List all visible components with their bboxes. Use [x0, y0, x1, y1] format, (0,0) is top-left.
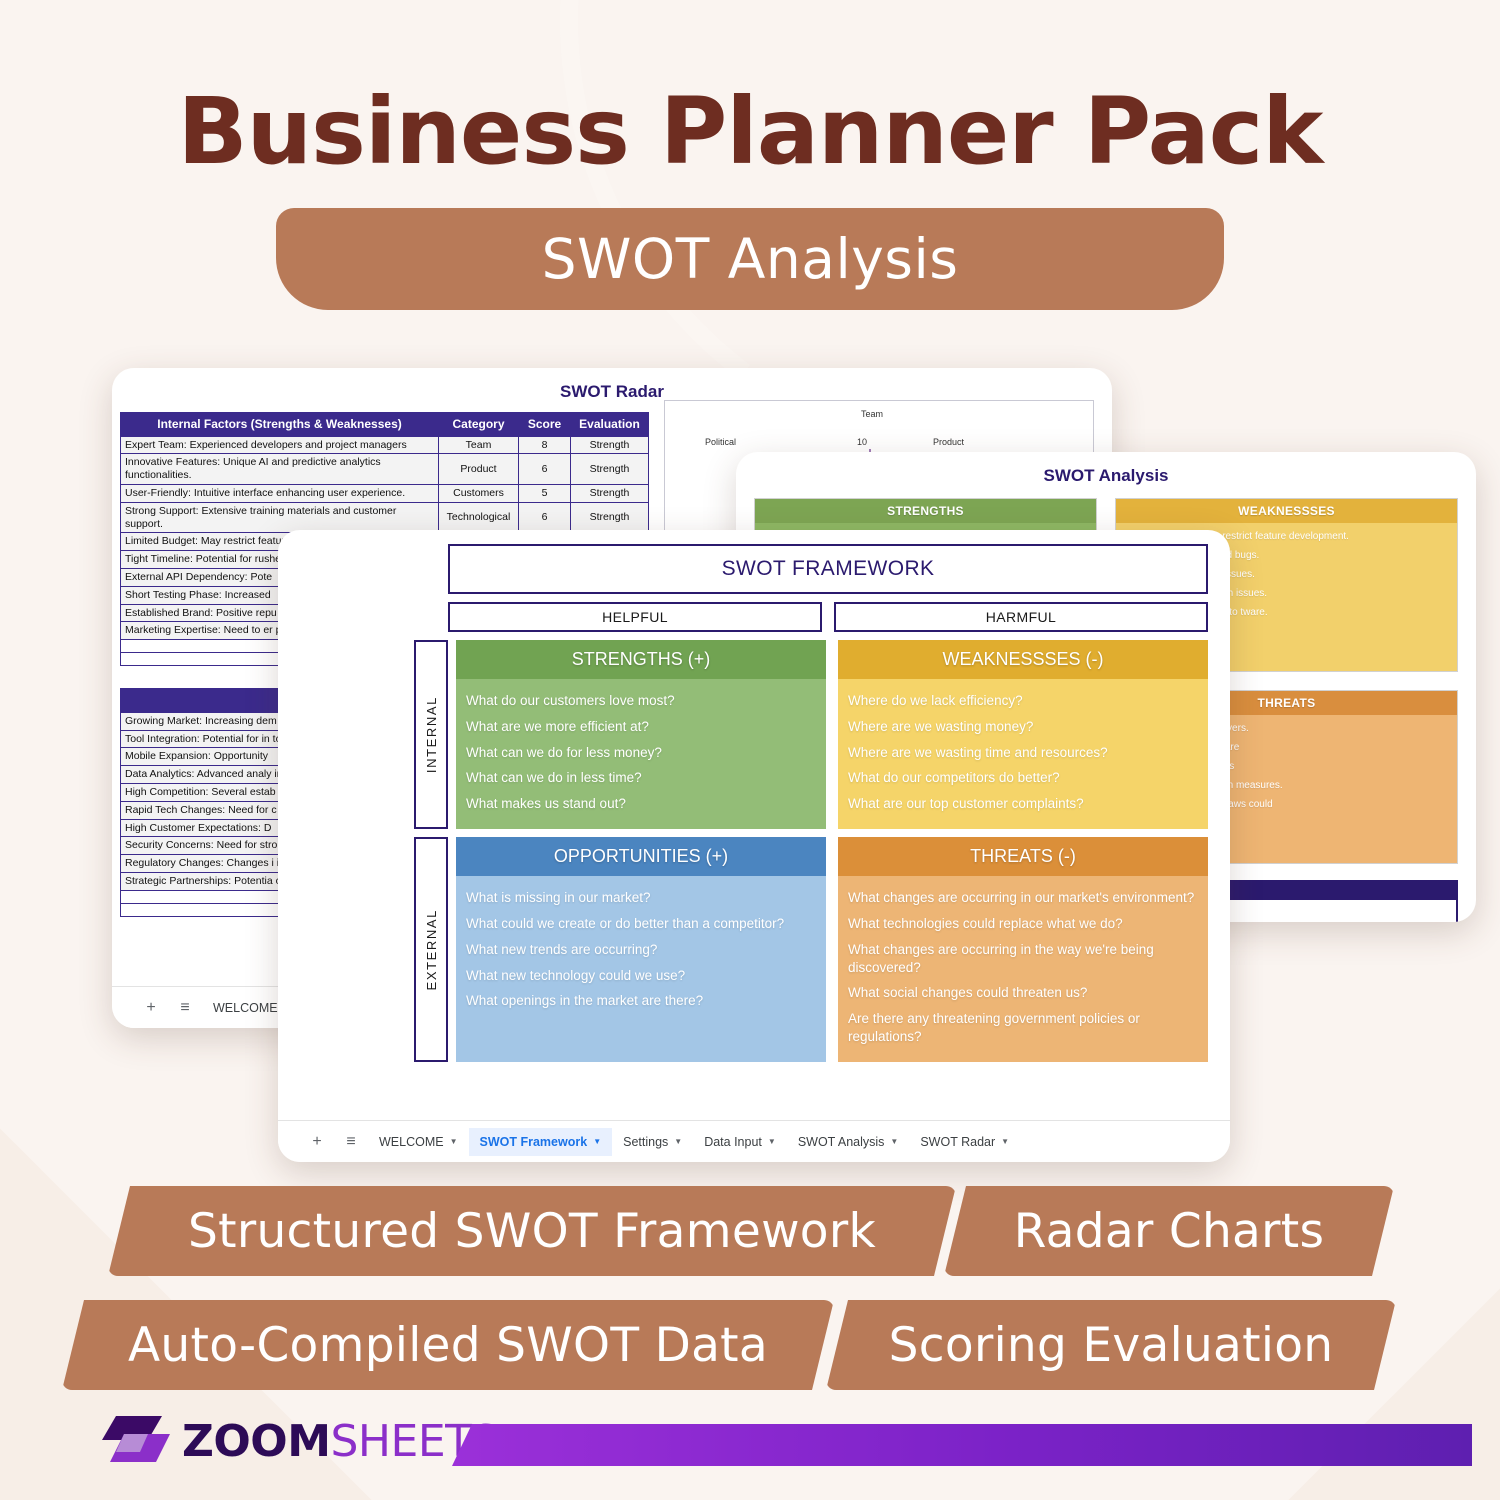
- framework-prompt-item: What changes are occurring in our market…: [848, 889, 1198, 907]
- framework-row-label-internal: INTERNAL: [414, 640, 448, 829]
- framework-weaknesses-heading: WEAKNESSSES (-): [838, 640, 1208, 679]
- sheet-tab-label: Data Input: [704, 1135, 762, 1149]
- framework-row-label-external-text: EXTERNAL: [424, 909, 439, 990]
- framework-prompt-item: Where do we lack efficiency?: [848, 692, 1198, 710]
- cell-category[interactable]: Product: [439, 454, 519, 485]
- feature-banner-label: Radar Charts: [1014, 1204, 1325, 1259]
- chevron-down-icon[interactable]: ▼: [593, 1137, 601, 1146]
- framework-prompt-item: What are our top customer complaints?: [848, 795, 1198, 813]
- chevron-down-icon[interactable]: ▼: [674, 1137, 682, 1146]
- framework-quadrant-strengths[interactable]: STRENGTHS (+) What do our customers love…: [456, 640, 826, 829]
- sheet-tab-settings[interactable]: Settings▼: [612, 1128, 693, 1156]
- feature-banner-structured-swot-framework: Structured SWOT Framework: [108, 1186, 956, 1276]
- chevron-down-icon[interactable]: ▼: [890, 1137, 898, 1146]
- feature-banner-label: Auto-Compiled SWOT Data: [128, 1318, 768, 1373]
- cell-score[interactable]: 5: [519, 485, 571, 503]
- logo-text-primary: ZOOM: [182, 1416, 331, 1467]
- poster-canvas: Business Planner Pack SWOT Analysis SWOT…: [0, 0, 1500, 1500]
- sheet-tab-data-input[interactable]: Data Input▼: [693, 1128, 787, 1156]
- zoomsheets-logo-icon: [98, 1412, 174, 1474]
- framework-quadrant-weaknesses[interactable]: WEAKNESSSES (-) Where do we lack efficie…: [838, 640, 1208, 829]
- cell-factor[interactable]: Strong Support: Extensive training mater…: [121, 502, 439, 533]
- chevron-down-icon[interactable]: ▼: [450, 1137, 458, 1146]
- framework-opportunities-items: What is missing in our market?What could…: [456, 876, 826, 1062]
- framework-title: SWOT FRAMEWORK: [448, 544, 1208, 594]
- sheet-tab-label: Settings: [623, 1135, 668, 1149]
- sheet-tab-label: WELCOME: [213, 1001, 278, 1015]
- chevron-down-icon[interactable]: ▼: [768, 1137, 776, 1146]
- col-header-factor: Internal Factors (Strengths & Weaknesses…: [121, 413, 439, 437]
- sheet-tab-list: WELCOME▼SWOT Framework▼Settings▼Data Inp…: [368, 1128, 1020, 1156]
- feature-banner-auto-compiled-swot-data: Auto-Compiled SWOT Data: [62, 1300, 834, 1390]
- analysis-weaknesses-heading: WEAKNESSSES: [1116, 499, 1457, 523]
- col-header-evaluation: Evaluation: [571, 413, 649, 437]
- poster-footer: ZOOMSHEETS: [0, 1390, 1500, 1500]
- framework-row-label-internal-text: INTERNAL: [424, 696, 439, 773]
- framework-body: SWOT FRAMEWORK HELPFUL HARMFUL INTERNAL …: [278, 530, 1230, 1062]
- framework-prompt-item: What new technology could we use?: [466, 967, 816, 985]
- table-row[interactable]: User-Friendly: Intuitive interface enhan…: [121, 485, 649, 503]
- cell-evaluation[interactable]: Strength: [571, 502, 649, 533]
- sheet-tab-swot-framework[interactable]: SWOT Framework▼: [469, 1128, 613, 1156]
- col-header-category: Category: [439, 413, 519, 437]
- framework-column-header-helpful: HELPFUL: [448, 602, 822, 632]
- cell-score[interactable]: 8: [519, 436, 571, 454]
- framework-prompt-item: Are there any threatening government pol…: [848, 1010, 1198, 1046]
- cell-evaluation[interactable]: Strength: [571, 485, 649, 503]
- cell-evaluation[interactable]: Strength: [571, 454, 649, 485]
- sheet-tab-label: SWOT Analysis: [798, 1135, 885, 1149]
- sheet-tab-welcome[interactable]: WELCOME: [202, 994, 289, 1022]
- framework-prompt-item: What openings in the market are there?: [466, 992, 816, 1010]
- sheet-tab-label: SWOT Framework: [480, 1135, 588, 1149]
- framework-opportunities-heading: OPPORTUNITIES (+): [456, 837, 826, 876]
- table-row[interactable]: Strong Support: Extensive training mater…: [121, 502, 649, 533]
- framework-threats-heading: THREATS (-): [838, 837, 1208, 876]
- cell-score[interactable]: 6: [519, 454, 571, 485]
- table-row[interactable]: Expert Team: Experienced developers and …: [121, 436, 649, 454]
- sheet-tab-label: WELCOME: [379, 1135, 444, 1149]
- framework-external-cells: OPPORTUNITIES (+) What is missing in our…: [456, 837, 1208, 1062]
- framework-prompt-item: What do our competitors do better?: [848, 769, 1198, 787]
- cell-category[interactable]: Customers: [439, 485, 519, 503]
- framework-prompt-item: What could we create or do better than a…: [466, 915, 816, 933]
- col-header-score: Score: [519, 413, 571, 437]
- sheet-tab-swot-analysis[interactable]: SWOT Analysis▼: [787, 1128, 910, 1156]
- framework-row-external: EXTERNAL OPPORTUNITIES (+) What is missi…: [294, 837, 1214, 1062]
- table-header-row: Internal Factors (Strengths & Weaknesses…: [121, 413, 649, 437]
- cell-factor[interactable]: Expert Team: Experienced developers and …: [121, 436, 439, 454]
- framework-quadrant-threats[interactable]: THREATS (-) What changes are occurring i…: [838, 837, 1208, 1062]
- chevron-down-icon[interactable]: ▼: [1001, 1137, 1009, 1146]
- subtitle-text: SWOT Analysis: [542, 227, 959, 291]
- sheet-tab-label: SWOT Radar: [920, 1135, 995, 1149]
- sheet-tab-swot-radar[interactable]: SWOT Radar▼: [909, 1128, 1020, 1156]
- framework-row-label-external: EXTERNAL: [414, 837, 448, 1062]
- swot-framework-sheet-card[interactable]: SWOT FRAMEWORK HELPFUL HARMFUL INTERNAL …: [278, 530, 1230, 1162]
- framework-prompt-item: What are we more efficient at?: [466, 718, 816, 736]
- add-sheet-icon[interactable]: +: [300, 1133, 334, 1151]
- cell-factor[interactable]: Innovative Features: Unique AI and predi…: [121, 454, 439, 485]
- framework-prompt-item: What can we do for less money?: [466, 744, 816, 762]
- framework-quadrant-opportunities[interactable]: OPPORTUNITIES (+) What is missing in our…: [456, 837, 826, 1062]
- feature-banner-radar-charts: Radar Charts: [944, 1186, 1394, 1276]
- framework-prompt-item: What new trends are occurring?: [466, 941, 816, 959]
- framework-prompt-item: What changes are occurring in the way we…: [848, 941, 1198, 977]
- framework-row-internal: INTERNAL STRENGTHS (+) What do our custo…: [294, 640, 1214, 829]
- framework-prompt-item: What can we do in less time?: [466, 769, 816, 787]
- feature-banner-label: Scoring Evaluation: [889, 1318, 1334, 1373]
- cell-factor[interactable]: User-Friendly: Intuitive interface enhan…: [121, 485, 439, 503]
- framework-prompt-item: What do our customers love most?: [466, 692, 816, 710]
- framework-strengths-items: What do our customers love most?What are…: [456, 679, 826, 829]
- framework-sheet-tabbar[interactable]: + ≡ WELCOME▼SWOT Framework▼Settings▼Data…: [278, 1120, 1230, 1162]
- footer-gradient-bar: [452, 1424, 1472, 1466]
- framework-prompt-item: What is missing in our market?: [466, 889, 816, 907]
- framework-column-header-harmful: HARMFUL: [834, 602, 1208, 632]
- framework-column-headers: HELPFUL HARMFUL: [448, 602, 1208, 632]
- framework-weaknesses-items: Where do we lack efficiency?Where are we…: [838, 679, 1208, 829]
- feature-banner-label: Structured SWOT Framework: [188, 1204, 876, 1259]
- add-sheet-icon[interactable]: +: [134, 999, 168, 1017]
- all-sheets-icon[interactable]: ≡: [334, 1133, 368, 1151]
- sheet-tab-welcome[interactable]: WELCOME▼: [368, 1128, 469, 1156]
- framework-prompt-item: What makes us stand out?: [466, 795, 816, 813]
- feature-banner-scoring-evaluation: Scoring Evaluation: [826, 1300, 1396, 1390]
- framework-threats-items: What changes are occurring in our market…: [838, 876, 1208, 1062]
- analysis-sheet-title: SWOT Analysis: [736, 452, 1476, 498]
- framework-prompt-item: Where are we wasting time and resources?: [848, 744, 1198, 762]
- cell-category[interactable]: Technological: [439, 502, 519, 533]
- subtitle-pill: SWOT Analysis: [276, 208, 1224, 310]
- analysis-strengths-heading: STRENGTHS: [755, 499, 1096, 523]
- page-title: Business Planner Pack: [0, 78, 1500, 185]
- framework-prompt-item: Where are we wasting money?: [848, 718, 1198, 736]
- framework-prompt-item: What social changes could threaten us?: [848, 984, 1198, 1002]
- framework-internal-cells: STRENGTHS (+) What do our customers love…: [456, 640, 1208, 829]
- framework-prompt-item: What technologies could replace what we …: [848, 915, 1198, 933]
- table-row[interactable]: Innovative Features: Unique AI and predi…: [121, 454, 649, 485]
- poster-header: Business Planner Pack SWOT Analysis: [0, 0, 1500, 185]
- all-sheets-icon[interactable]: ≡: [168, 999, 202, 1017]
- cell-category[interactable]: Team: [439, 436, 519, 454]
- cell-score[interactable]: 6: [519, 502, 571, 533]
- framework-strengths-heading: STRENGTHS (+): [456, 640, 826, 679]
- zoomsheets-wordmark: ZOOMSHEETS: [182, 1416, 499, 1467]
- cell-evaluation[interactable]: Strength: [571, 436, 649, 454]
